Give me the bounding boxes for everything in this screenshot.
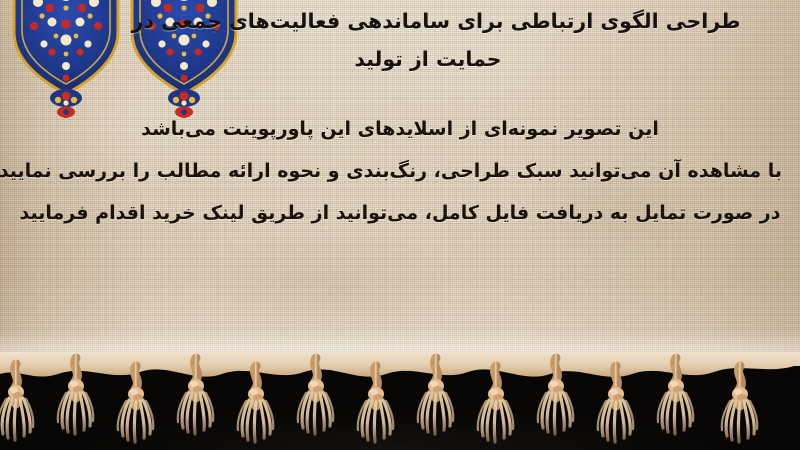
slide-canvas: طراحی الگوی ارتباطی برای ساماندهی فعالیت… <box>0 0 800 450</box>
persian-tazhib-ornament-left <box>8 0 124 118</box>
persian-tazhib-ornament-right <box>126 0 242 118</box>
tassel-fringe <box>0 352 800 450</box>
